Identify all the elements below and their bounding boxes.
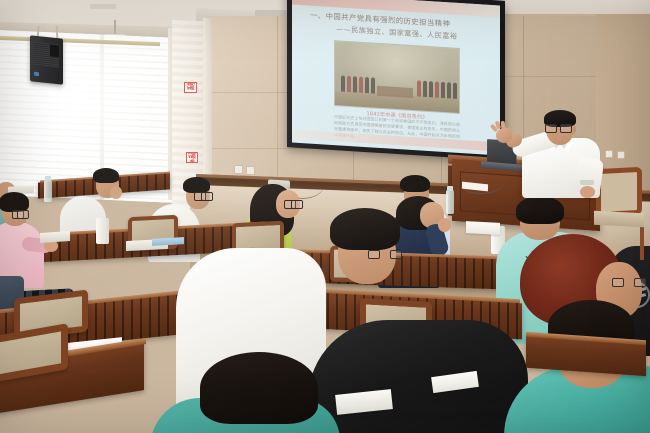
speaker-port [50,44,59,57]
glasses-icon [284,200,303,206]
glasses-icon [368,250,402,261]
screen-surface: 一、中国共产党具有强烈的历史担当精神 ——民族独立、国家富强、人民富裕 [292,0,500,156]
student-hair [516,196,564,224]
sign-text: 消防\n栓 [186,83,196,92]
student-hair [0,192,29,212]
student-hand [438,218,451,232]
paper-cup[interactable] [96,218,109,244]
water-bottle[interactable] [446,190,454,214]
student-hair [330,208,400,250]
paper-sheet[interactable] [466,221,500,235]
projection-screen: 一、中国共产党具有强烈的历史担当精神 ——民族独立、国家富强、人民富裕 [287,0,505,161]
wall-outlet[interactable] [605,150,613,158]
glasses-icon [12,210,29,216]
ceiling-speaker-icon [30,35,63,84]
notebook[interactable] [40,231,70,243]
lecturer-hand-right [580,186,595,198]
student-hand [110,186,122,199]
chair-behind-lecturer[interactable] [596,167,642,217]
lecture-hall-photo: 消防\n栓 禁止\n吸烟 一、中国共产党具有强烈的历史担当精神 ——民族独立、国… [0,0,650,433]
lecturer-finger [501,121,506,129]
student-torso-dark [308,320,528,433]
glasses-icon [612,278,646,290]
student-hair [400,175,430,192]
chair-seat [594,211,644,228]
status-badge-fire-sign: 消防\n栓 [184,82,197,93]
sign-text: 禁止\n吸烟 [188,152,197,163]
water-bottle[interactable] [44,180,52,202]
wall-outlet[interactable] [234,165,243,174]
wall-outlet[interactable] [617,151,625,159]
wall-outlet[interactable] [246,166,255,175]
ceiling-vent [90,4,116,9]
slide-image-treaty-painting [334,40,460,114]
status-badge-no-smoking-sign: 禁止\n吸烟 [186,152,198,163]
student-hair [200,352,318,424]
student-hair [93,168,119,183]
lecturer-wristwatch [580,180,594,185]
chair-leg [640,224,644,260]
glasses-icon [194,192,213,198]
glasses-icon [545,124,572,131]
speaker-led-icon [34,72,39,77]
student-hair [183,177,210,193]
